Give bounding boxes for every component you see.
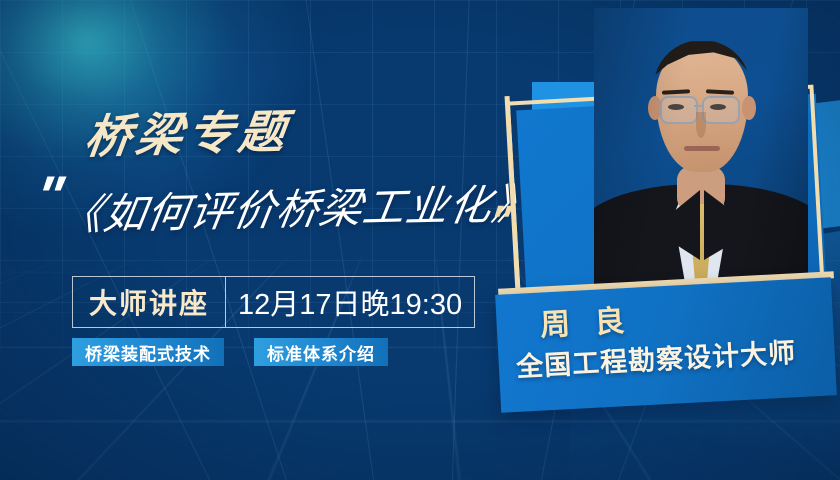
topic-kicker: 桥梁专题: [81, 95, 294, 167]
quote-open-mark: ": [31, 168, 63, 224]
text-content-block: 桥梁专题 " 《如何评价桥梁工业化》 " 大师讲座 12月17日晚19:30 桥…: [0, 0, 520, 480]
page-title: 《如何评价桥梁工业化》: [56, 170, 540, 243]
lecture-datetime: 12月17日晚19:30: [226, 277, 474, 327]
topic-tag-standards-system: 标准体系介绍: [254, 338, 388, 366]
lecture-series-label: 大师讲座: [73, 277, 225, 327]
topic-tag-assembly-tech: 桥梁装配式技术: [72, 338, 224, 366]
speaker-name: 周 良: [539, 296, 634, 345]
speaker-portrait-photo: [594, 8, 808, 308]
speaker-block: 周 良 全国工程勘察设计大师: [490, 0, 840, 480]
lecture-info-bar: 大师讲座 12月17日晚19:30: [72, 276, 475, 328]
topic-tag-list: 桥梁装配式技术 标准体系介绍: [72, 338, 388, 366]
lecture-poster: 桥梁专题 " 《如何评价桥梁工业化》 " 大师讲座 12月17日晚19:30 桥…: [0, 0, 840, 480]
